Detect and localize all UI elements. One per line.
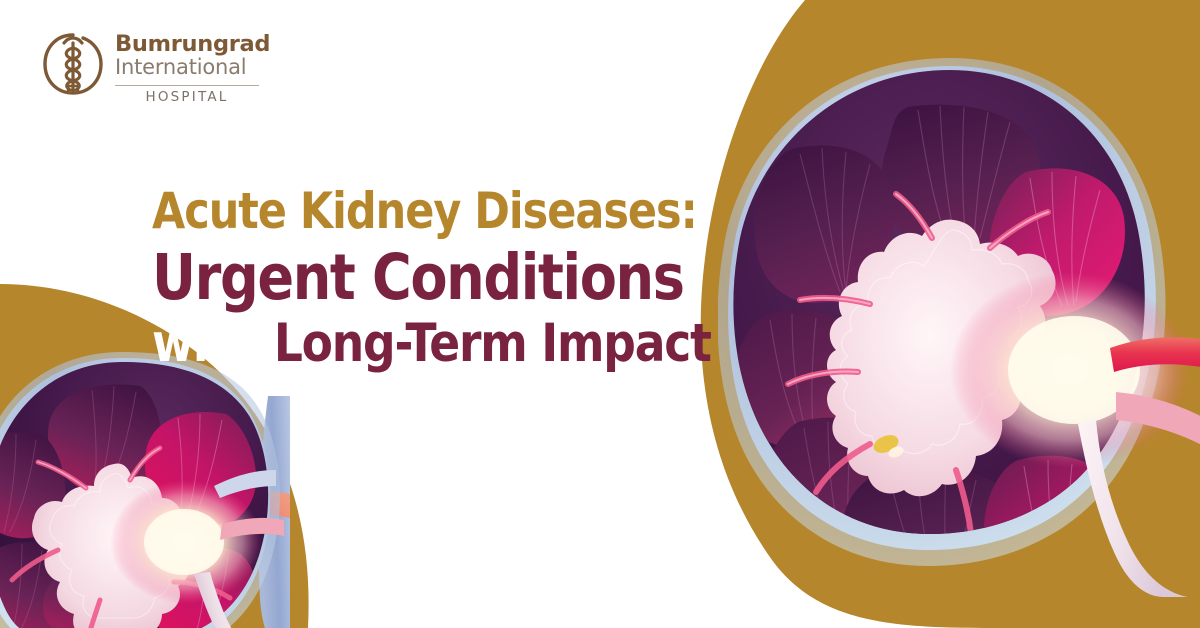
brand-logo[interactable]: Bumrungrad International HOSPITAL [42, 30, 270, 105]
headline-line-2: Urgent Conditions [152, 246, 685, 309]
kidney-cross-section-large [718, 52, 1200, 597]
headline-line-3-rest: Long-Term Impact [274, 313, 711, 374]
headline-line-3: with Long-Term Impact [152, 317, 685, 370]
kidney-cross-section-small [0, 338, 290, 628]
brand-hospital: HOSPITAL [115, 89, 259, 105]
brand-wordmark: Bumrungrad International HOSPITAL [115, 30, 270, 105]
brand-name: Bumrungrad [115, 33, 270, 56]
headline-line-3-prefix: with [152, 313, 259, 374]
caduceus-icon [42, 30, 104, 100]
banner-root: Bumrungrad International HOSPITAL Acute … [0, 0, 1200, 628]
headline-line-1: Acute Kidney Diseases: [152, 186, 685, 236]
headline-block: Acute Kidney Diseases: Urgent Conditions… [152, 186, 772, 370]
brand-sub: International [115, 56, 270, 80]
brand-divider [115, 85, 259, 86]
